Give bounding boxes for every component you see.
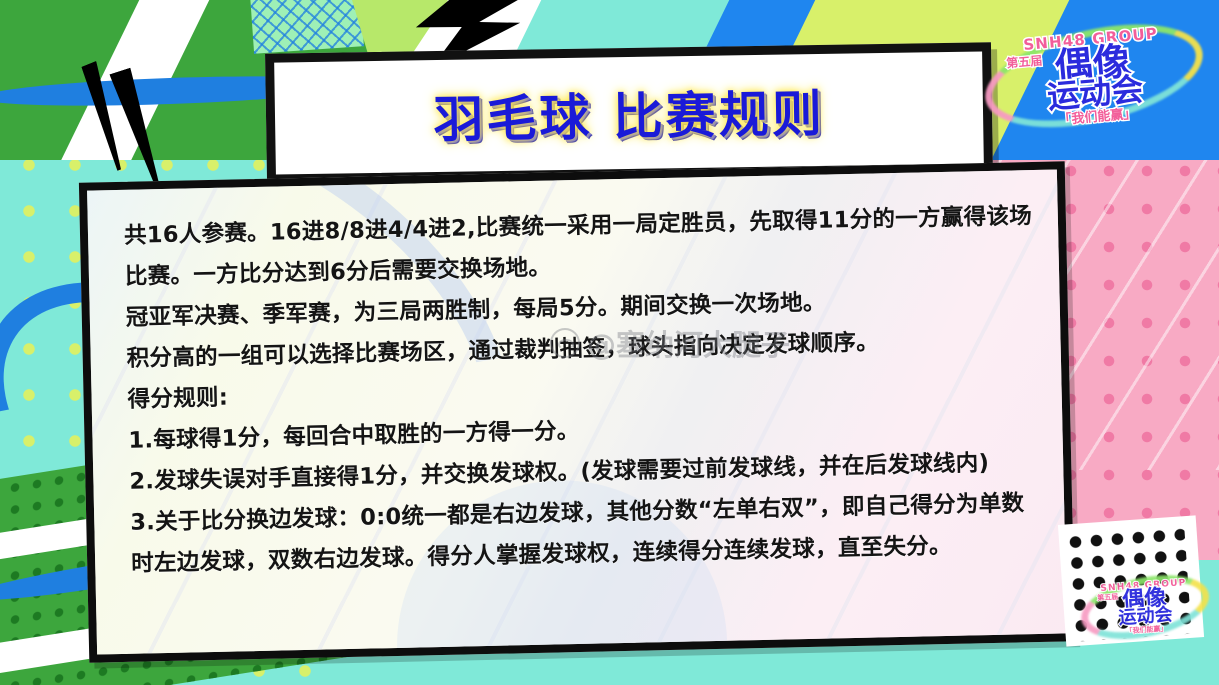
slide-root: WAIT 羽毛球 比赛规则 共16人参赛。16进8/8进4/4进2,比赛统一采用…	[0, 0, 1219, 685]
event-logo-edition: 第五届	[1006, 54, 1043, 69]
corner-logo-edition: 第五届	[1097, 594, 1118, 602]
background-net-patch	[250, 0, 364, 54]
event-logo-corner: SNH48 GROUP 第五届 偶像 运动会 「我们能赢」	[1094, 579, 1195, 638]
corner-logo-inner: SNH48 GROUP 第五届 偶像 运动会 「我们能赢」	[1094, 579, 1195, 638]
title-banner: 羽毛球 比赛规则	[265, 42, 993, 183]
event-logo-main: SNH48 GROUP 第五届 偶像 运动会 「我们能赢」	[1002, 25, 1185, 131]
rules-text-block: 共16人参赛。16进8/8进4/4进2,比赛统一采用一局定胜员，先取得11分的一…	[87, 169, 1065, 585]
rules-panel: 共16人参赛。16进8/8进4/4进2,比赛统一采用一局定胜员，先取得11分的一…	[79, 161, 1075, 662]
event-logo-inner: SNH48 GROUP 第五届 偶像 运动会 「我们能赢」	[1002, 25, 1185, 131]
page-title: 羽毛球 比赛规则	[433, 74, 826, 152]
